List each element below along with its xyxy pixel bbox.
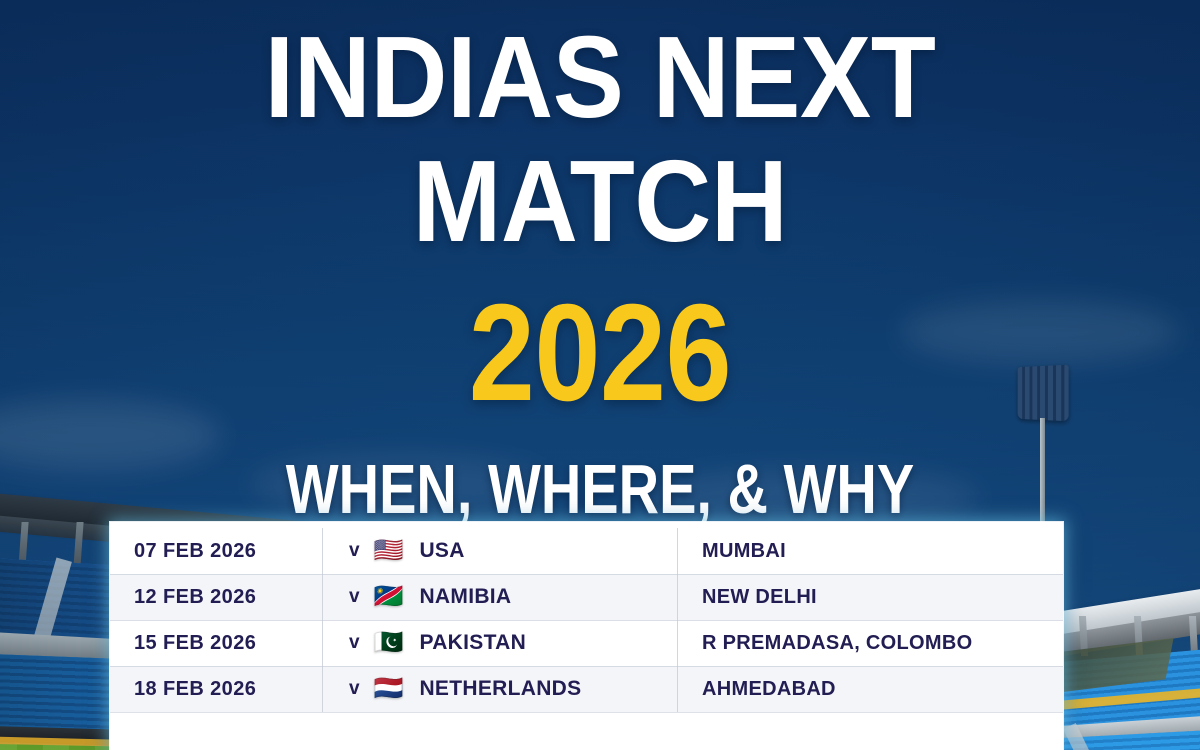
fixture-date: 15 FEB 2026 — [110, 632, 322, 655]
table-row[interactable]: 18 FEB 2026 v 🇳🇱 NETHERLANDS AHMEDABAD — [110, 666, 1063, 712]
fixture-opponent-cell: v 🇳🇦 NAMIBIA — [322, 574, 678, 620]
versus-label: v — [349, 632, 360, 654]
fixture-opponent: NETHERLANDS — [419, 677, 581, 701]
versus-label: v — [349, 586, 360, 608]
headline-subtitle: WHEN, WHERE, & WHY — [120, 452, 1080, 526]
pk-flag-icon: 🇵🇰 — [374, 631, 404, 655]
nl-flag-icon: 🇳🇱 — [374, 677, 404, 701]
fixtures-table-inner: 07 FEB 2026 v 🇺🇸 USA MUMBAI 12 FEB 2026 … — [110, 522, 1063, 750]
fixture-venue: R PREMADASA, COLOMBO — [678, 632, 1063, 655]
fixture-opponent-cell: v 🇳🇱 NETHERLANDS — [322, 666, 678, 712]
headline-line-1: INDIAS NEXT — [48, 18, 1152, 136]
fixtures-table: 07 FEB 2026 v 🇺🇸 USA MUMBAI 12 FEB 2026 … — [110, 522, 1063, 750]
headline-year: 2026 — [84, 283, 1116, 423]
fixture-venue: MUMBAI — [678, 540, 1063, 563]
fixture-date: 18 FEB 2026 — [110, 678, 322, 701]
fixture-venue: NEW DELHI — [678, 586, 1063, 609]
us-flag-icon: 🇺🇸 — [374, 539, 404, 563]
poster-canvas: INDIAS NEXT MATCH 2026 WHEN, WHERE, & WH… — [0, 0, 1200, 750]
table-row[interactable]: 07 FEB 2026 v 🇺🇸 USA MUMBAI — [110, 528, 1063, 574]
fixture-opponent: NAMIBIA — [419, 585, 511, 609]
table-row[interactable]: 15 FEB 2026 v 🇵🇰 PAKISTAN R PREMADASA, C… — [110, 620, 1063, 666]
fixture-opponent-cell: v 🇺🇸 USA — [322, 528, 678, 574]
fixture-opponent-cell: v 🇵🇰 PAKISTAN — [322, 620, 678, 666]
versus-label: v — [349, 540, 360, 562]
versus-label: v — [349, 678, 360, 700]
fixture-date: 12 FEB 2026 — [110, 586, 322, 609]
fixture-date: 07 FEB 2026 — [110, 540, 322, 563]
table-row[interactable]: 12 FEB 2026 v 🇳🇦 NAMIBIA NEW DELHI — [110, 574, 1063, 620]
fixture-opponent: USA — [419, 539, 464, 563]
fixture-opponent: PAKISTAN — [419, 631, 526, 655]
fixtures-table-footer-strip — [110, 712, 1063, 734]
fixture-venue: AHMEDABAD — [678, 678, 1063, 701]
na-flag-icon: 🇳🇦 — [374, 585, 404, 609]
headline-line-2: MATCH — [48, 142, 1152, 260]
